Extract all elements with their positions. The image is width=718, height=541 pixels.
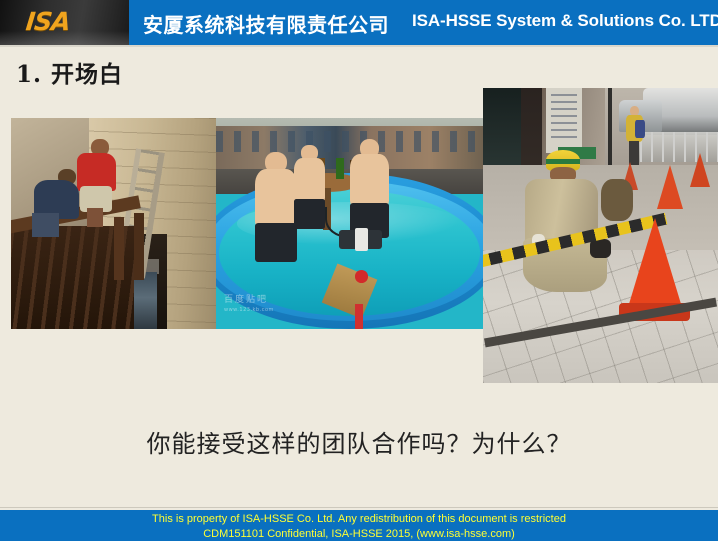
presentation-slide: ISA 安厦系统科技有限责任公司 ISA-HSSE System & Solut… (0, 0, 718, 541)
isa-logo: ISA (25, 9, 71, 35)
photo2-power-adapter (355, 228, 368, 251)
footer-document-line: CDM151101 Confidential, ISA-HSSE 2015, (… (0, 527, 718, 541)
slide-question: 你能接受这样的团队合作吗？为什么？ (0, 424, 718, 459)
photo2-plank-marker (355, 270, 368, 283)
photo-stairway-ladder (11, 118, 216, 329)
photo-pool-electrics: 百度贴吧 www.123.kb.com (216, 118, 483, 329)
photo2-person-torso (294, 158, 325, 203)
photo1-worker-leg (87, 208, 102, 227)
photo1-rail-post (134, 213, 144, 281)
photo2-watermark-text: 百度贴吧 (224, 295, 268, 305)
photo2-person-torso (350, 154, 388, 207)
photo2-watermark-url: www.123.kb.com (224, 305, 274, 315)
logo-panel: ISA (0, 0, 129, 45)
photo3-pedestrian-backpack (635, 120, 645, 138)
company-name-english: ISA-HSSE System & Solutions Co. LTD (412, 11, 718, 31)
photo3-traffic-cone-distant (657, 165, 683, 209)
slide-header-bar: ISA 安厦系统科技有限责任公司 ISA-HSSE System & Solut… (0, 0, 718, 45)
photo3-traffic-cone-distant (690, 153, 710, 187)
photo2-person-trunks (294, 199, 325, 229)
photo2-plank-strap (355, 304, 363, 329)
photo1-worker-blue-shirt (32, 169, 85, 237)
footer-divider (0, 507, 718, 508)
photo3-poster-text (551, 94, 577, 138)
photo-street-worker (483, 88, 718, 383)
photo2-watermark: 百度贴吧 www.123.kb.com (224, 295, 274, 315)
photo2-bottle (336, 158, 344, 179)
photo1-rail-post (114, 217, 124, 280)
photo1-worker-jeans (32, 213, 60, 237)
footer-copyright-line: This is property of ISA-HSSE Co. Ltd. An… (0, 510, 718, 527)
photo3-traffic-cone-main (629, 218, 681, 304)
slide-title: 1. 开场白 (16, 55, 123, 89)
photo2-person-middle (291, 145, 328, 238)
header-divider (0, 45, 718, 47)
company-name-chinese: 安厦系统科技有限责任公司 (143, 9, 389, 38)
slide-footer-bar: This is property of ISA-HSSE Co. Ltd. An… (0, 510, 718, 541)
photo3-worker-shoe (590, 239, 612, 258)
photo3-hard-hat-stripe (546, 159, 580, 164)
